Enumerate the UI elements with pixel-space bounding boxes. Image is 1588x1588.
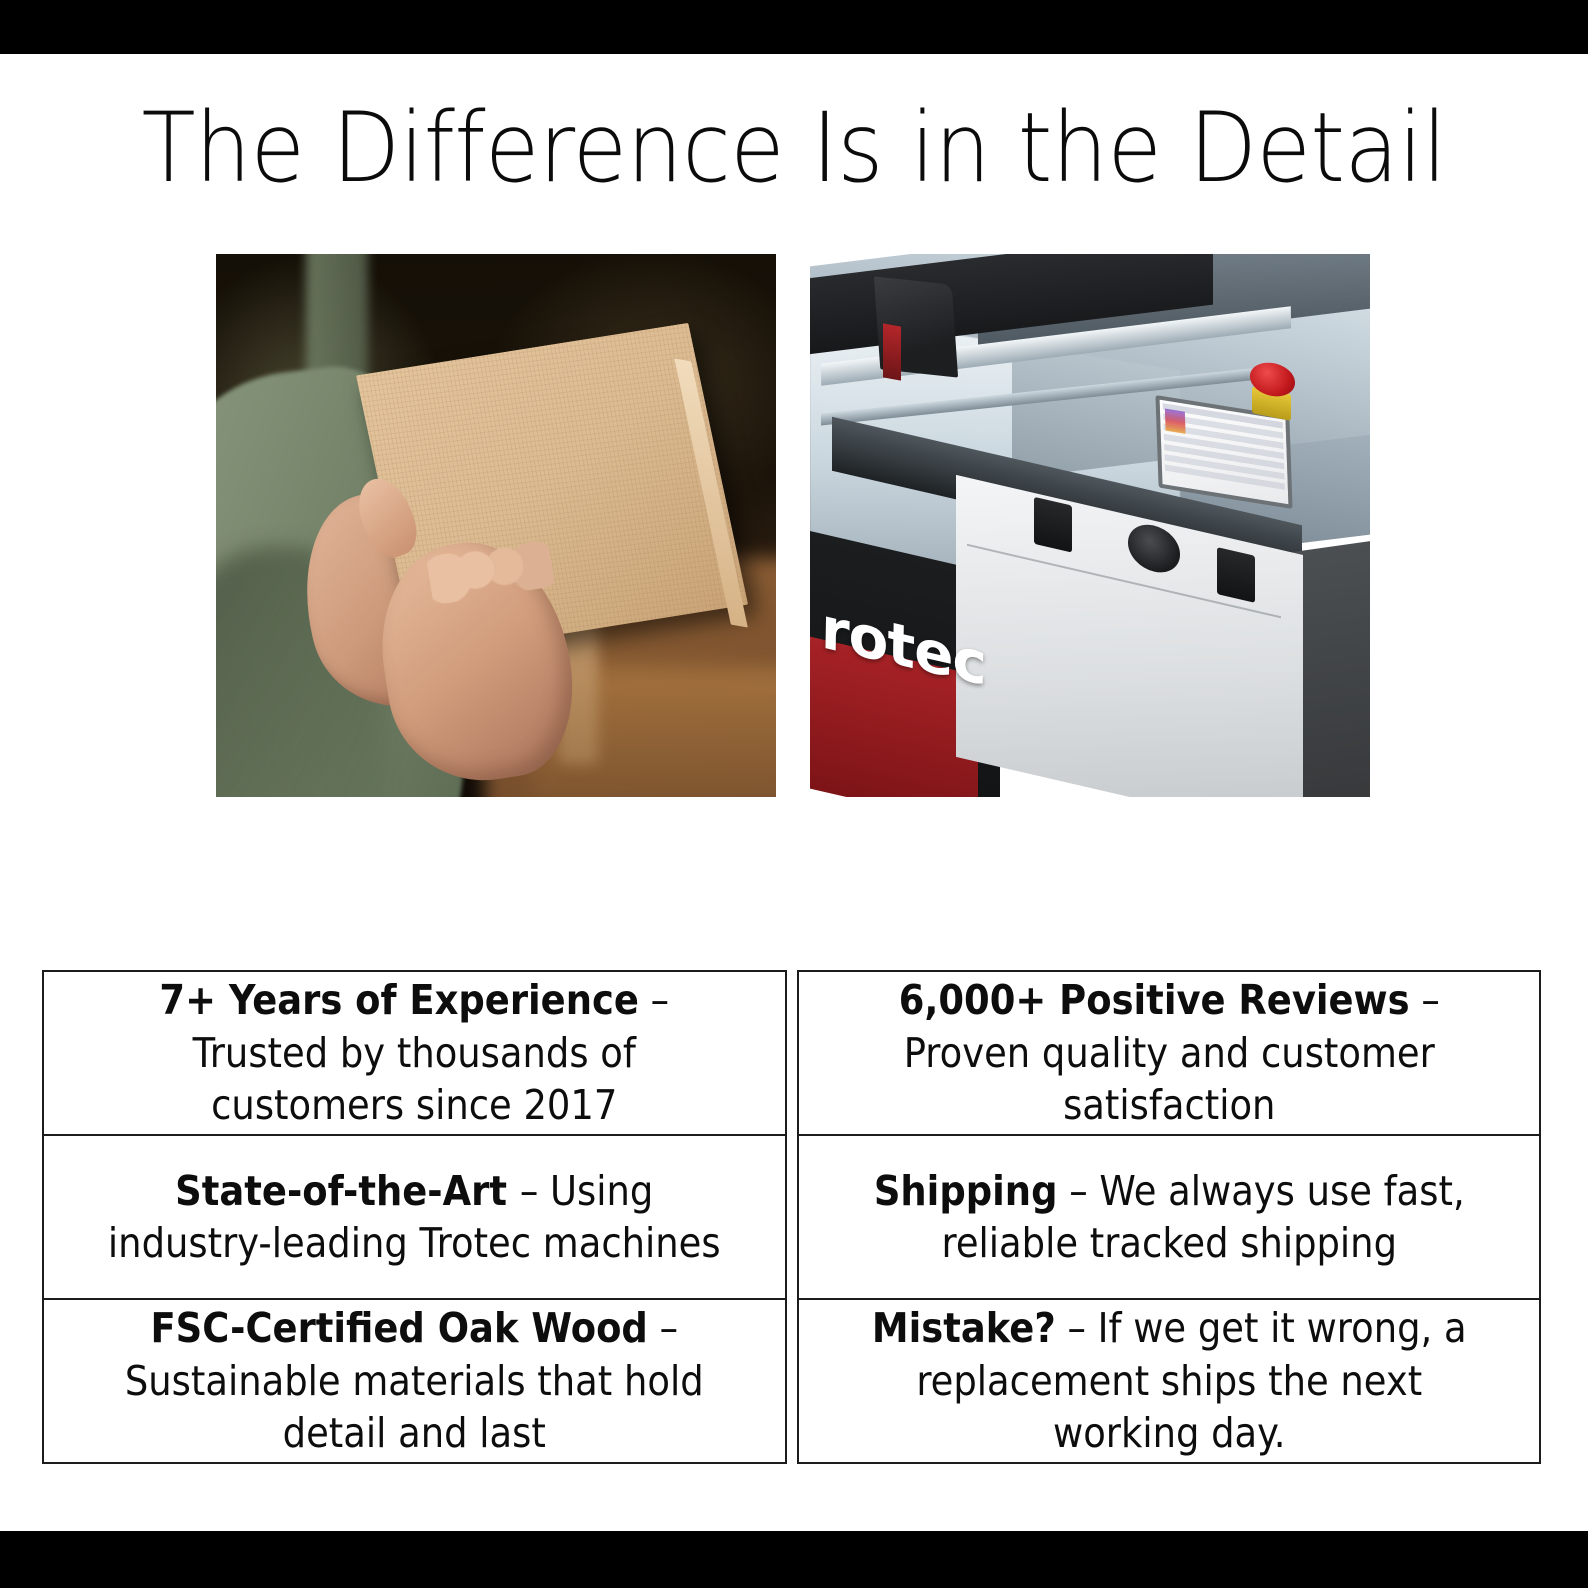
feature-text: Shipping – We always use fast, reliable … (848, 1165, 1489, 1270)
letterbox-bar-bottom (0, 1531, 1588, 1588)
feature-heading: 6,000+ Positive Reviews (898, 976, 1409, 1024)
feature-cell-state-of-the-art: State-of-the-Art – Using industry-leadin… (42, 1134, 787, 1300)
feature-text: State-of-the-Art – Using industry-leadin… (94, 1165, 735, 1270)
feature-dash: – (639, 976, 669, 1024)
feature-cell-fsc-oak-wood: FSC-Certified Oak Wood – Sustainable mat… (42, 1298, 787, 1464)
features-column-right: 6,000+ Positive Reviews – Proven quality… (797, 970, 1542, 1464)
feature-body: Sustainable materials that hold detail a… (125, 1357, 704, 1457)
feature-dash: – (1057, 1167, 1099, 1215)
feature-cell-experience: 7+ Years of Experience – Trusted by thou… (42, 970, 787, 1136)
control-button-left[interactable] (1034, 497, 1072, 553)
feature-heading: Shipping (873, 1167, 1057, 1215)
feature-dash: – (1055, 1304, 1097, 1352)
features-table: 7+ Years of Experience – Trusted by thou… (42, 970, 1541, 1464)
feature-text: 7+ Years of Experience – Trusted by thou… (94, 974, 735, 1131)
letterbox-bar-top (0, 0, 1588, 54)
laser-head-accent (883, 323, 901, 380)
feature-cell-positive-reviews: 6,000+ Positive Reviews – Proven quality… (797, 970, 1542, 1136)
photo-oak-panel-in-hands (216, 254, 776, 797)
touchscreen-color-swatches (1165, 409, 1186, 434)
feature-dash: – (1409, 976, 1439, 1024)
feature-heading: FSC-Certified Oak Wood (150, 1304, 647, 1352)
feature-cell-mistake: Mistake? – If we get it wrong, a replace… (797, 1298, 1542, 1464)
feature-dash: – (520, 1167, 550, 1215)
feature-text: FSC-Certified Oak Wood – Sustainable mat… (94, 1302, 735, 1459)
features-column-left: 7+ Years of Experience – Trusted by thou… (42, 970, 787, 1464)
control-button-right[interactable] (1217, 547, 1255, 603)
feature-heading: 7+ Years of Experience (159, 976, 638, 1024)
feature-cell-shipping: Shipping – We always use fast, reliable … (797, 1134, 1542, 1300)
slide-root: The Difference Is in the Detail (0, 0, 1588, 1588)
control-jog-knob[interactable] (1128, 520, 1180, 578)
feature-text: 6,000+ Positive Reviews – Proven quality… (848, 974, 1489, 1131)
feature-body: Trusted by thousands of customers since … (193, 1029, 636, 1129)
feature-dash: – (648, 1304, 678, 1352)
photo-trotec-laser-machine: rotec (810, 254, 1370, 797)
slide-canvas: The Difference Is in the Detail (0, 54, 1588, 1531)
page-title: The Difference Is in the Detail (64, 98, 1525, 199)
feature-heading: State-of-the-Art (175, 1167, 520, 1215)
feature-body: Proven quality and customer satisfaction (903, 1029, 1434, 1129)
feature-text: Mistake? – If we get it wrong, a replace… (848, 1302, 1489, 1459)
feature-heading: Mistake? (871, 1304, 1055, 1352)
photo-row: rotec (0, 254, 1588, 814)
